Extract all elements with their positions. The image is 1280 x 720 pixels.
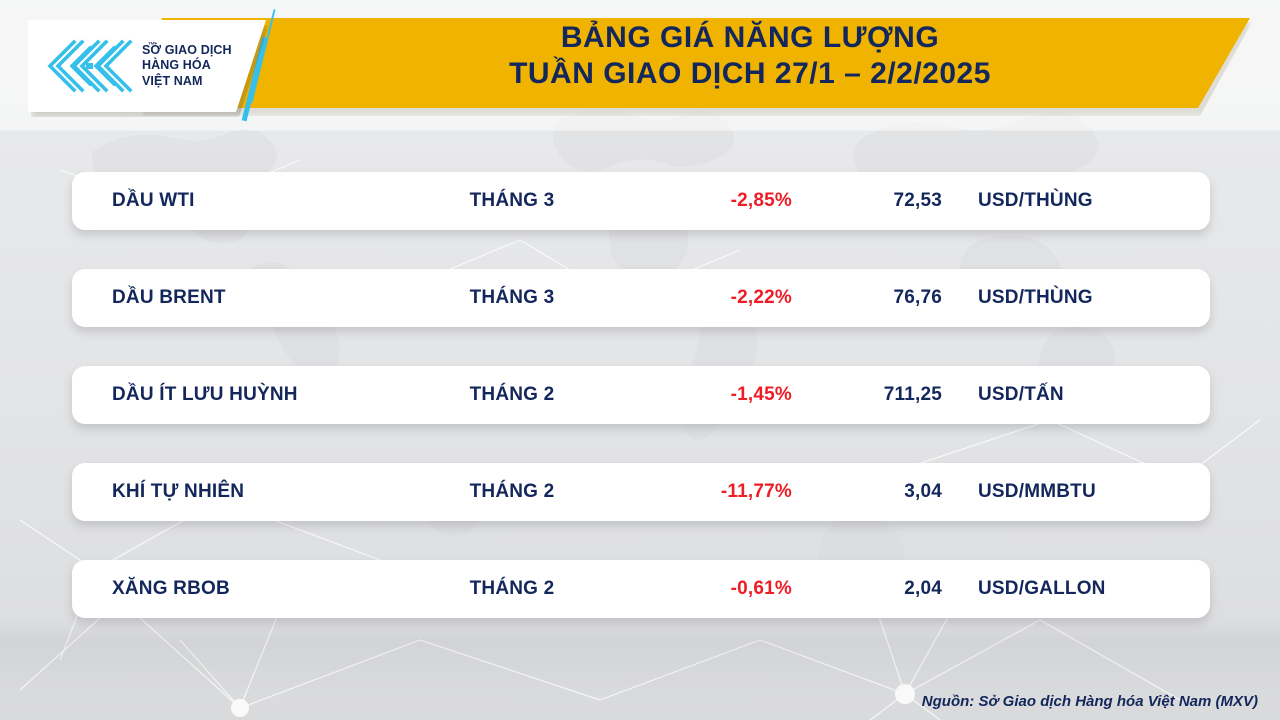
page-title: BẢNG GIÁ NĂNG LƯỢNG TUẦN GIAO DỊCH 27/1 … [300, 22, 1200, 91]
delivery-month: THÁNG 3 [412, 190, 612, 212]
brand-name: SỞ GIAO DỊCH HÀNG HÓA VIỆT NAM [142, 43, 232, 89]
page-title-line1: BẢNG GIÁ NĂNG LƯỢNG [300, 22, 1200, 54]
mxv-chevron-logo-icon [44, 38, 136, 94]
change-percent: -0,61% [612, 578, 792, 600]
change-percent: -11,77% [612, 481, 792, 503]
price-unit: USD/GALLON [978, 578, 1106, 600]
change-percent: -2,85% [612, 190, 792, 212]
settlement-price: 3,04 [772, 481, 942, 503]
delivery-month: THÁNG 2 [412, 578, 612, 600]
table-row: KHÍ TỰ NHIÊNTHÁNG 2-11,77%3,04USD/MMBTU [72, 463, 1210, 521]
commodity-name: KHÍ TỰ NHIÊN [112, 481, 244, 503]
settlement-price: 711,25 [772, 384, 942, 406]
commodity-name: XĂNG RBOB [112, 578, 230, 600]
change-percent: -2,22% [612, 287, 792, 309]
table-row: DẦU BRENTTHÁNG 3-2,22%76,76USD/THÙNG [72, 269, 1210, 327]
brand-name-line1: SỞ GIAO DỊCH [142, 43, 232, 58]
header: BẢNG GIÁ NĂNG LƯỢNG TUẦN GIAO DỊCH 27/1 … [0, 0, 1280, 140]
settlement-price: 2,04 [772, 578, 942, 600]
table-row: XĂNG RBOBTHÁNG 2-0,61%2,04USD/GALLON [72, 560, 1210, 618]
commodity-name: DẦU WTI [112, 190, 195, 212]
price-unit: USD/TẤN [978, 384, 1064, 406]
source-note: Nguồn: Sở Giao dịch Hàng hóa Việt Nam (M… [922, 693, 1258, 710]
settlement-price: 72,53 [772, 190, 942, 212]
settlement-price: 76,76 [772, 287, 942, 309]
brand-name-line2: HÀNG HÓA [142, 58, 232, 73]
trademark-symbol: ™ [148, 42, 155, 49]
price-unit: USD/THÙNG [978, 190, 1093, 212]
price-unit: USD/MMBTU [978, 481, 1096, 503]
table-row: DẦU WTITHÁNG 3-2,85%72,53USD/THÙNG [72, 172, 1210, 230]
energy-price-board: BẢNG GIÁ NĂNG LƯỢNG TUẦN GIAO DỊCH 27/1 … [0, 0, 1280, 720]
change-percent: -1,45% [612, 384, 792, 406]
brand-name-line3: VIỆT NAM [142, 74, 232, 89]
delivery-month: THÁNG 2 [412, 384, 612, 406]
price-table: DẦU WTITHÁNG 3-2,85%72,53USD/THÙNGDẦU BR… [72, 172, 1210, 657]
table-row: DẦU ÍT LƯU HUỲNHTHÁNG 2-1,45%711,25USD/T… [72, 366, 1210, 424]
delivery-month: THÁNG 3 [412, 287, 612, 309]
price-unit: USD/THÙNG [978, 287, 1093, 309]
commodity-name: DẦU BRENT [112, 287, 226, 309]
delivery-month: THÁNG 2 [412, 481, 612, 503]
commodity-name: DẦU ÍT LƯU HUỲNH [112, 384, 298, 406]
brand-logo: ™ SỞ GIAO DỊCH HÀNG HÓA VIỆT NAM [28, 20, 266, 112]
page-title-line2: TUẦN GIAO DỊCH 27/1 – 2/2/2025 [300, 58, 1200, 90]
